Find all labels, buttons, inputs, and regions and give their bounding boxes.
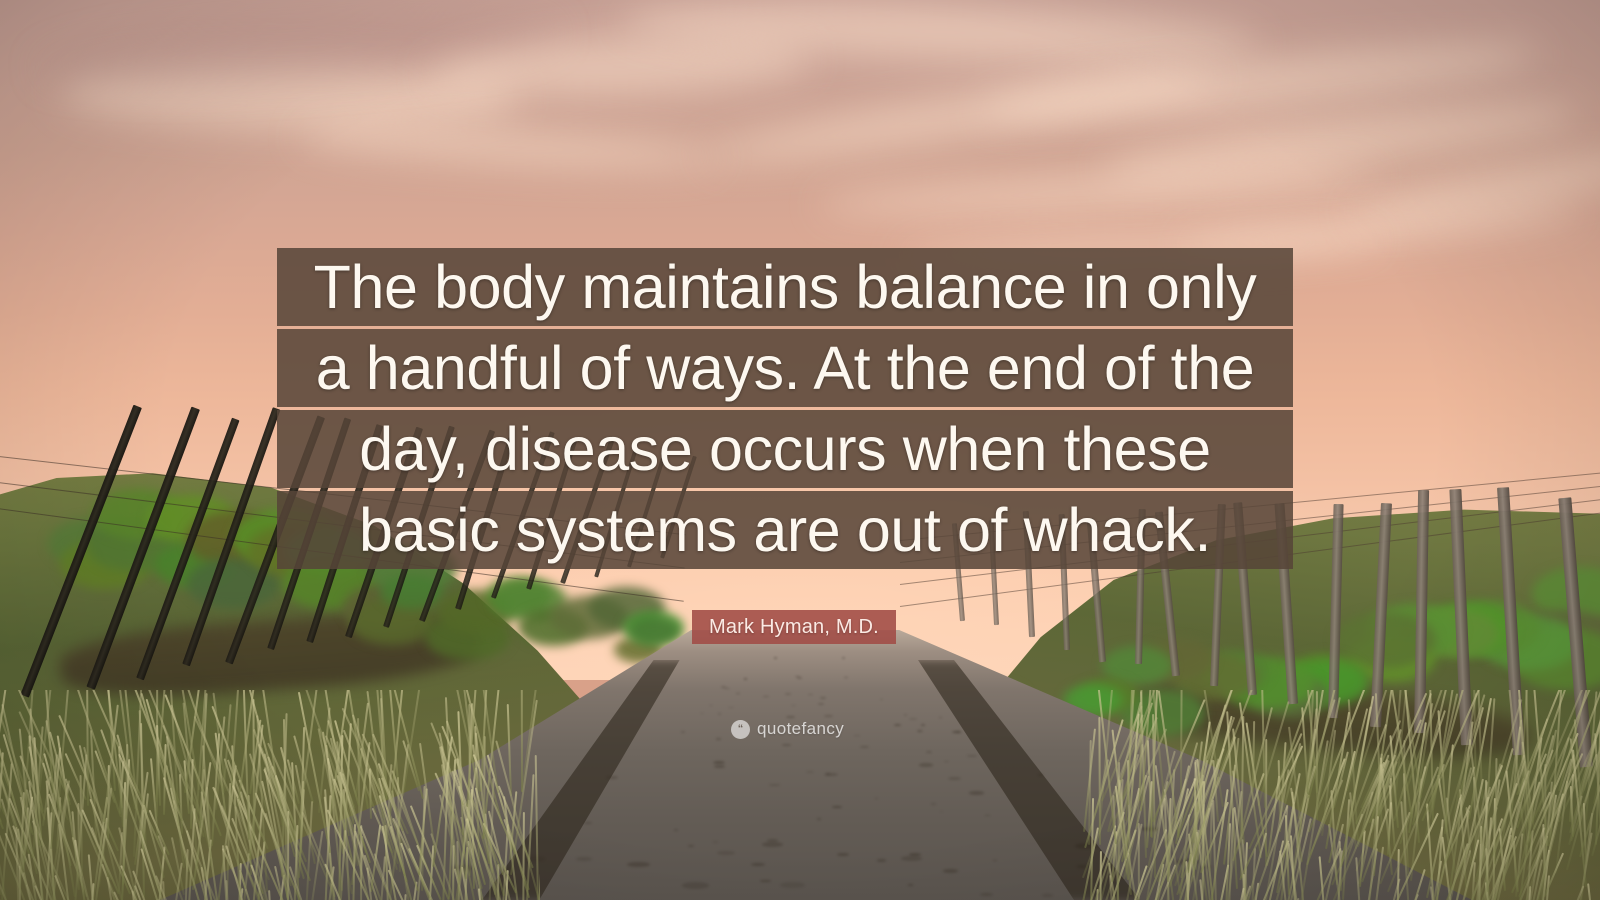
- grass-blade: [1587, 884, 1595, 900]
- path-pebble: [797, 677, 802, 679]
- path-pebble: [919, 730, 924, 732]
- path-pebble: [921, 724, 924, 726]
- grass-blade: [268, 890, 274, 900]
- path-pebble: [713, 761, 725, 764]
- quote-line-2: a handful of ways. At the end of the: [277, 329, 1293, 407]
- path-pebble: [940, 811, 944, 813]
- quote-line-1: The body maintains balance in only: [277, 248, 1293, 326]
- path-pebble: [751, 863, 765, 866]
- quote-text-block: The body maintains balance in only a han…: [277, 248, 1293, 569]
- grass-blade: [535, 755, 539, 900]
- cloud-wisp: [299, 119, 720, 175]
- path-pebble: [713, 841, 718, 843]
- path-pebble: [806, 771, 814, 773]
- path-pebble: [956, 731, 961, 733]
- path-pebble: [576, 857, 592, 861]
- path-pebble: [909, 718, 917, 720]
- foreground-grass-right: [1080, 690, 1600, 900]
- grass-blade: [1180, 690, 1183, 794]
- path-pebble: [985, 815, 990, 817]
- path-pebble: [969, 791, 984, 795]
- path-pebble: [904, 714, 907, 716]
- path-pebble: [894, 724, 902, 726]
- path-pebble: [717, 851, 735, 855]
- path-pebble: [877, 859, 886, 861]
- grass-blade: [1301, 707, 1309, 794]
- path-pebble: [842, 657, 845, 659]
- path-pebble: [716, 738, 721, 740]
- path-pebble: [931, 803, 936, 805]
- path-pebble: [718, 713, 721, 715]
- path-pebble: [817, 818, 821, 820]
- path-pebble: [837, 853, 849, 856]
- quote-line-3: day, disease occurs when these: [277, 410, 1293, 488]
- author-name: Mark Hyman, M.D.: [709, 616, 879, 638]
- grass-blade: [1316, 691, 1318, 820]
- path-pebble: [682, 882, 709, 889]
- path-pebble: [1038, 774, 1044, 776]
- path-pebble: [681, 731, 686, 733]
- path-pebble: [943, 869, 958, 873]
- path-pebble: [584, 822, 592, 824]
- path-pebble: [908, 884, 914, 886]
- grass-blade: [1592, 862, 1600, 900]
- path-pebble: [782, 744, 790, 746]
- path-pebble: [832, 806, 841, 808]
- path-pebble: [967, 755, 977, 757]
- path-pebble: [818, 703, 824, 705]
- quote-line-4: basic systems are out of whack.: [277, 491, 1293, 569]
- quotefancy-watermark[interactable]: “ quotefancy: [731, 719, 844, 739]
- watermark-brand-label: quotefancy: [757, 719, 844, 739]
- path-pebble: [780, 882, 805, 888]
- path-pebble: [901, 856, 922, 861]
- quote-mark-icon: “: [731, 720, 750, 739]
- cloud-wisp: [820, 160, 1381, 221]
- grass-blade: [521, 690, 523, 791]
- author-attribution-badge: Mark Hyman, M.D.: [692, 610, 896, 644]
- path-pebble: [674, 829, 678, 831]
- path-pebble: [826, 773, 829, 775]
- quote-poster: The body maintains balance in only a han…: [0, 0, 1600, 900]
- grass-blade: [86, 690, 89, 806]
- path-pebble: [919, 763, 933, 767]
- quote-mark-glyph: “: [738, 724, 744, 735]
- path-pebble: [820, 697, 826, 699]
- path-pebble: [774, 657, 777, 659]
- path-pebble: [744, 678, 748, 680]
- path-pebble: [714, 765, 725, 768]
- foreground-grass-left: [0, 690, 540, 900]
